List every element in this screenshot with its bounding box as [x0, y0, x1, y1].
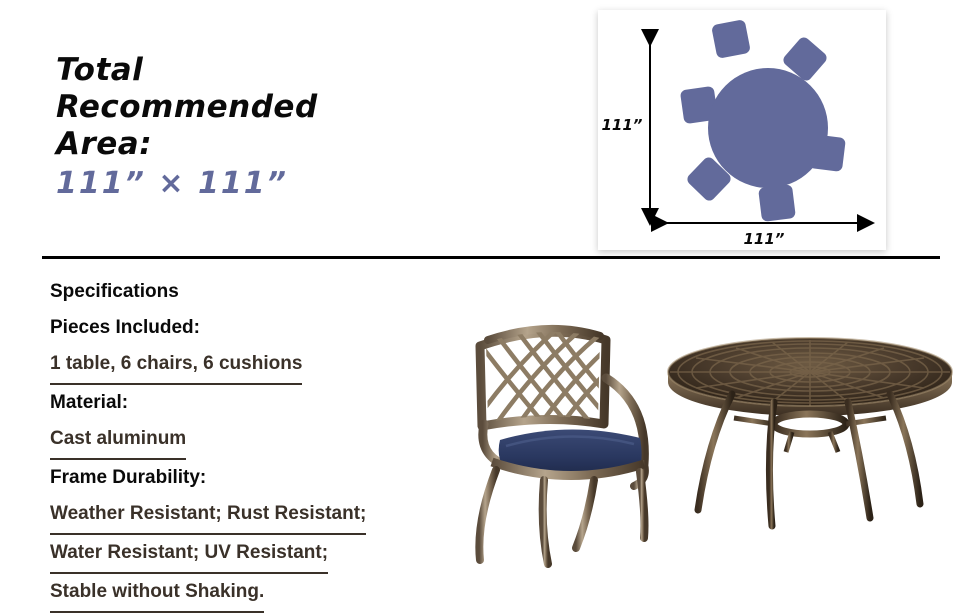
spec-value-frame-durability-line-1: Weather Resistant; Rust Resistant;: [50, 496, 366, 535]
patio-dining-chair-illustration: [448, 312, 680, 600]
chair-front-left-leg: [479, 470, 496, 560]
product-chair-image: [448, 312, 680, 600]
section-divider: [42, 256, 940, 259]
spec-label-pieces-included: Pieces Included:: [50, 310, 470, 346]
spec-value-pieces-included: 1 table, 6 chairs, 6 cushions: [50, 346, 302, 385]
diagram-table: [708, 68, 828, 188]
specifications-title: Specifications: [50, 274, 470, 310]
spec-label-material: Material:: [50, 385, 470, 421]
diagram-width-label: 111”: [744, 230, 785, 248]
hero-title-line-2: Recommended: [56, 89, 416, 126]
chair-front-right-leg: [543, 480, 548, 564]
table-leg-2: [769, 402, 774, 526]
chair-rear-leg: [640, 472, 645, 538]
patio-round-dining-table-illustration: [662, 332, 958, 532]
spec-row-frame-durability-1: Weather Resistant; Rust Resistant;: [50, 496, 470, 535]
table-leg-1: [698, 394, 732, 510]
spec-value-frame-durability-line-2: Water Resistant; UV Resistant;: [50, 535, 328, 574]
hero-title-line-1: Total: [56, 52, 416, 89]
table-support-ring: [774, 414, 846, 434]
spec-row-frame-durability-3: Stable without Shaking.: [50, 574, 470, 613]
chair-back-right-leg: [576, 480, 594, 548]
hero-heading: Total Recommended Area: 111” × 111”: [56, 52, 416, 203]
spec-row-pieces-included: 1 table, 6 chairs, 6 cushions: [50, 346, 470, 385]
table-leg-4: [890, 394, 920, 504]
spec-label-frame-durability: Frame Durability:: [50, 460, 470, 496]
spec-row-frame-durability-2: Water Resistant; UV Resistant;: [50, 535, 470, 574]
hero-title-line-3: Area:: [56, 126, 416, 163]
layout-diagram-panel: 111” 111”: [598, 10, 886, 250]
diagram-chair-6: [758, 184, 796, 222]
spec-row-material: Cast aluminum: [50, 421, 470, 460]
specifications-block: Specifications Pieces Included: 1 table,…: [50, 274, 470, 613]
hero-dimensions-value: 111” × 111”: [56, 165, 416, 203]
spec-value-material: Cast aluminum: [50, 421, 186, 460]
diagram-chair-1: [711, 19, 751, 59]
diagram-height-label: 111”: [602, 116, 643, 134]
product-table-image: [662, 332, 958, 532]
spec-value-frame-durability-line-3: Stable without Shaking.: [50, 574, 264, 613]
layout-diagram-svg: 111” 111”: [598, 10, 886, 250]
